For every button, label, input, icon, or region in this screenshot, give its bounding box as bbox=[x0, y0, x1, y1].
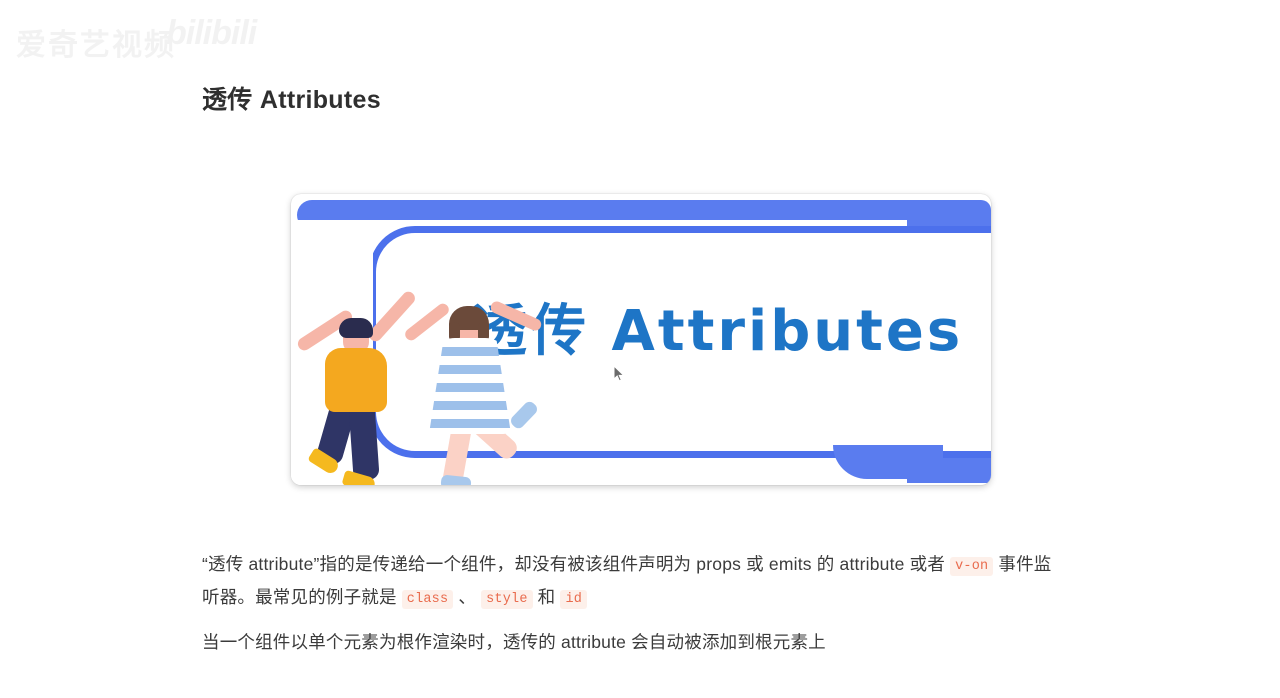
code-token-id: id bbox=[560, 590, 587, 609]
page-title: 透传 Attributes bbox=[202, 80, 381, 116]
person-a-hair bbox=[339, 318, 373, 338]
para1-part4: 和 bbox=[533, 587, 561, 607]
bilibili-logo-watermark: bilibili bbox=[166, 14, 256, 53]
hero-blue-corner-stub bbox=[833, 445, 943, 479]
code-token-style: style bbox=[481, 590, 533, 609]
code-token-class: class bbox=[402, 590, 454, 609]
illustration-person-striped-dress bbox=[403, 290, 553, 485]
person-b-left-arm bbox=[403, 301, 451, 342]
person-b-right-shoe bbox=[509, 399, 540, 430]
person-b-right-arm bbox=[489, 300, 543, 333]
hero-illustration-card: 透传 Attributes bbox=[291, 194, 991, 485]
body-copy: “透传 attribute”指的是传递给一个组件，却没有被该组件声明为 prop… bbox=[202, 549, 1060, 670]
paragraph-root-element: 当一个组件以单个元素为根作渲染时，透传的 attribute 会自动被添加到根元… bbox=[202, 627, 1060, 658]
paragraph-definition: “透传 attribute”指的是传递给一个组件，却没有被该组件声明为 prop… bbox=[202, 549, 1060, 615]
code-token-v-on: v-on bbox=[950, 557, 993, 576]
watermark-text: 爱奇艺视频 bbox=[16, 20, 176, 64]
para1-part3: 、 bbox=[453, 587, 481, 607]
person-a-shirt bbox=[325, 348, 387, 412]
person-b-left-shoe bbox=[440, 474, 471, 485]
person-a-right-leg bbox=[348, 401, 379, 481]
person-b-dress bbox=[429, 338, 511, 434]
hero-illustration-canvas: 透传 Attributes bbox=[291, 194, 991, 485]
para1-part1: “透传 attribute”指的是传递给一个组件，却没有被该组件声明为 prop… bbox=[202, 554, 950, 574]
watermark: 爱奇艺视频 bilibili bbox=[16, 12, 256, 66]
